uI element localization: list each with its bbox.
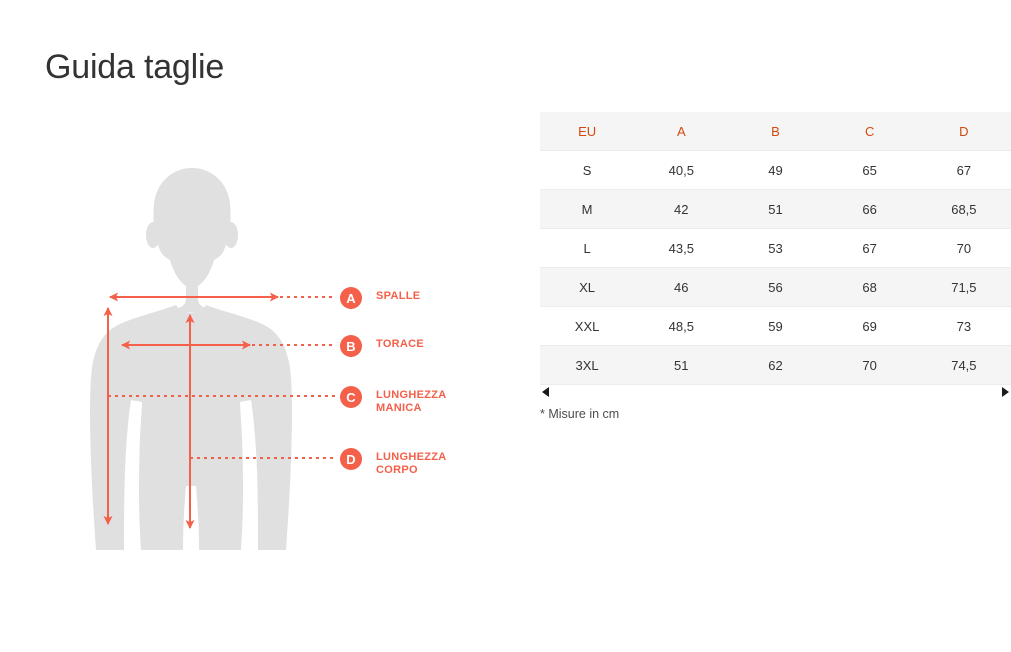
legend-label-d: LUNGHEZZA CORPO [376, 448, 447, 477]
cell-d: 71,5 [917, 268, 1011, 307]
cell-a: 42 [634, 190, 728, 229]
table-note: * Misure in cm [540, 407, 619, 421]
measurement-diagram: A SPALLE B TORACE C LUNGHEZZA MANICA D L… [0, 100, 520, 570]
page-title: Guida taglie [45, 48, 224, 87]
size-table-head: EU A B C D [540, 112, 1011, 151]
triangle-right-icon[interactable] [1002, 387, 1009, 397]
legend-label-d-line1: LUNGHEZZA [376, 451, 447, 464]
legend-badge-a: A [340, 287, 362, 309]
legend-item-a: A SPALLE [340, 287, 420, 309]
cell-c: 67 [823, 229, 917, 268]
legend-label-b-line1: TORACE [376, 338, 424, 351]
cell-c: 65 [823, 151, 917, 190]
cell-size: M [540, 190, 634, 229]
cell-a: 43,5 [634, 229, 728, 268]
column-header-a: A [634, 112, 728, 151]
size-table: EU A B C D S 40,5 49 65 67 M 42 51 66 68… [540, 112, 1011, 385]
legend-label-a: SPALLE [376, 287, 420, 303]
size-table-body: S 40,5 49 65 67 M 42 51 66 68,5 L 43,5 5… [540, 151, 1011, 385]
cell-d: 74,5 [917, 346, 1011, 385]
cell-b: 59 [728, 307, 822, 346]
cell-a: 40,5 [634, 151, 728, 190]
legend-badge-d: D [340, 448, 362, 470]
legend-badge-b: B [340, 335, 362, 357]
cell-b: 56 [728, 268, 822, 307]
legend-badge-c: C [340, 386, 362, 408]
table-horizontal-scrollbar[interactable] [540, 385, 1011, 399]
cell-b: 62 [728, 346, 822, 385]
cell-d: 68,5 [917, 190, 1011, 229]
table-row: L 43,5 53 67 70 [540, 229, 1011, 268]
cell-d: 73 [917, 307, 1011, 346]
cell-d: 67 [917, 151, 1011, 190]
cell-size: L [540, 229, 634, 268]
table-row: XL 46 56 68 71,5 [540, 268, 1011, 307]
cell-c: 68 [823, 268, 917, 307]
column-header-d: D [917, 112, 1011, 151]
cell-b: 53 [728, 229, 822, 268]
legend-label-d-line2: CORPO [376, 464, 447, 477]
table-header-row: EU A B C D [540, 112, 1011, 151]
body-silhouette-svg [0, 100, 520, 570]
cell-b: 49 [728, 151, 822, 190]
cell-a: 48,5 [634, 307, 728, 346]
cell-size: S [540, 151, 634, 190]
legend-item-b: B TORACE [340, 335, 424, 357]
column-header-b: B [728, 112, 822, 151]
cell-a: 51 [634, 346, 728, 385]
legend-label-a-line1: SPALLE [376, 290, 420, 303]
column-header-eu: EU [540, 112, 634, 151]
cell-size: XXL [540, 307, 634, 346]
legend-label-c-line1: LUNGHEZZA [376, 389, 447, 402]
table-row: 3XL 51 62 70 74,5 [540, 346, 1011, 385]
legend-label-c-line2: MANICA [376, 402, 447, 415]
cell-b: 51 [728, 190, 822, 229]
cell-c: 70 [823, 346, 917, 385]
cell-c: 66 [823, 190, 917, 229]
cell-a: 46 [634, 268, 728, 307]
legend-label-b: TORACE [376, 335, 424, 351]
size-table-container[interactable]: EU A B C D S 40,5 49 65 67 M 42 51 66 68… [540, 112, 1011, 399]
triangle-left-icon[interactable] [542, 387, 549, 397]
cell-c: 69 [823, 307, 917, 346]
legend-item-c: C LUNGHEZZA MANICA [340, 386, 447, 415]
cell-size: 3XL [540, 346, 634, 385]
cell-size: XL [540, 268, 634, 307]
legend-item-d: D LUNGHEZZA CORPO [340, 448, 447, 477]
table-row: XXL 48,5 59 69 73 [540, 307, 1011, 346]
table-row: M 42 51 66 68,5 [540, 190, 1011, 229]
cell-d: 70 [917, 229, 1011, 268]
column-header-c: C [823, 112, 917, 151]
legend-label-c: LUNGHEZZA MANICA [376, 386, 447, 415]
table-row: S 40,5 49 65 67 [540, 151, 1011, 190]
